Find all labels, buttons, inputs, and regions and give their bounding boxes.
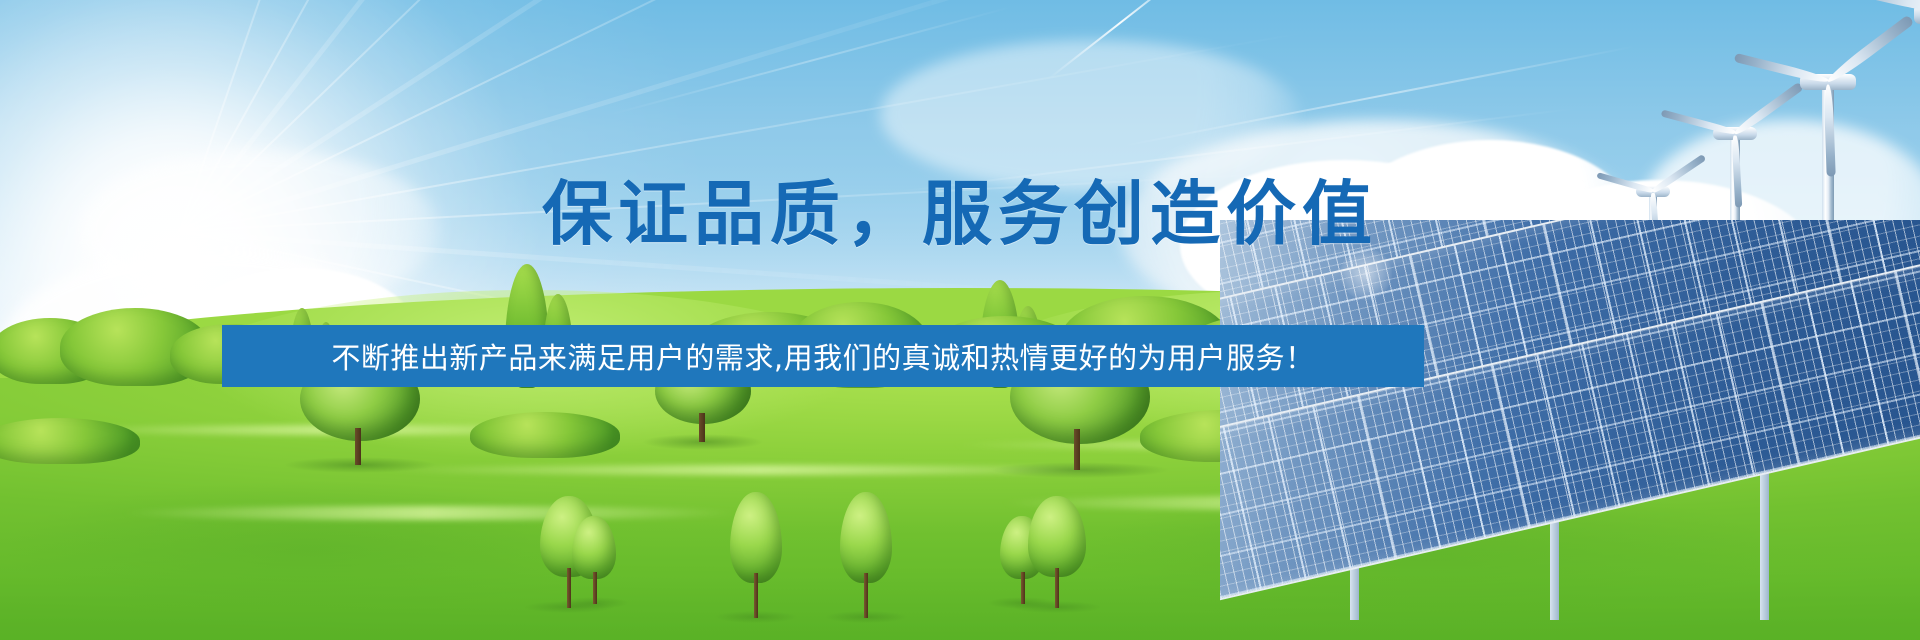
grass-stripe-4 xyxy=(120,506,740,520)
sapling-3 xyxy=(730,492,782,618)
shrub-cluster-left xyxy=(470,412,620,458)
sapling-4 xyxy=(840,492,892,618)
page-title: 保证品质，服务创造价值 xyxy=(0,158,1920,259)
hero-banner: 保证品质，服务创造价值 不断推出新产品来满足用户的需求,用我们的真诚和热情更好的… xyxy=(0,0,1920,640)
sapling-6 xyxy=(1028,496,1086,608)
subtitle-text: 不断推出新产品来满足用户的需求,用我们的真诚和热情更好的为用户服务！ xyxy=(331,335,1314,377)
subtitle-bar: 不断推出新产品来满足用户的需求,用我们的真诚和热情更好的为用户服务！ xyxy=(222,325,1424,387)
shrub-cluster-far-left xyxy=(0,418,140,464)
sapling-2 xyxy=(572,516,616,604)
solar-panel-array xyxy=(1220,220,1920,640)
